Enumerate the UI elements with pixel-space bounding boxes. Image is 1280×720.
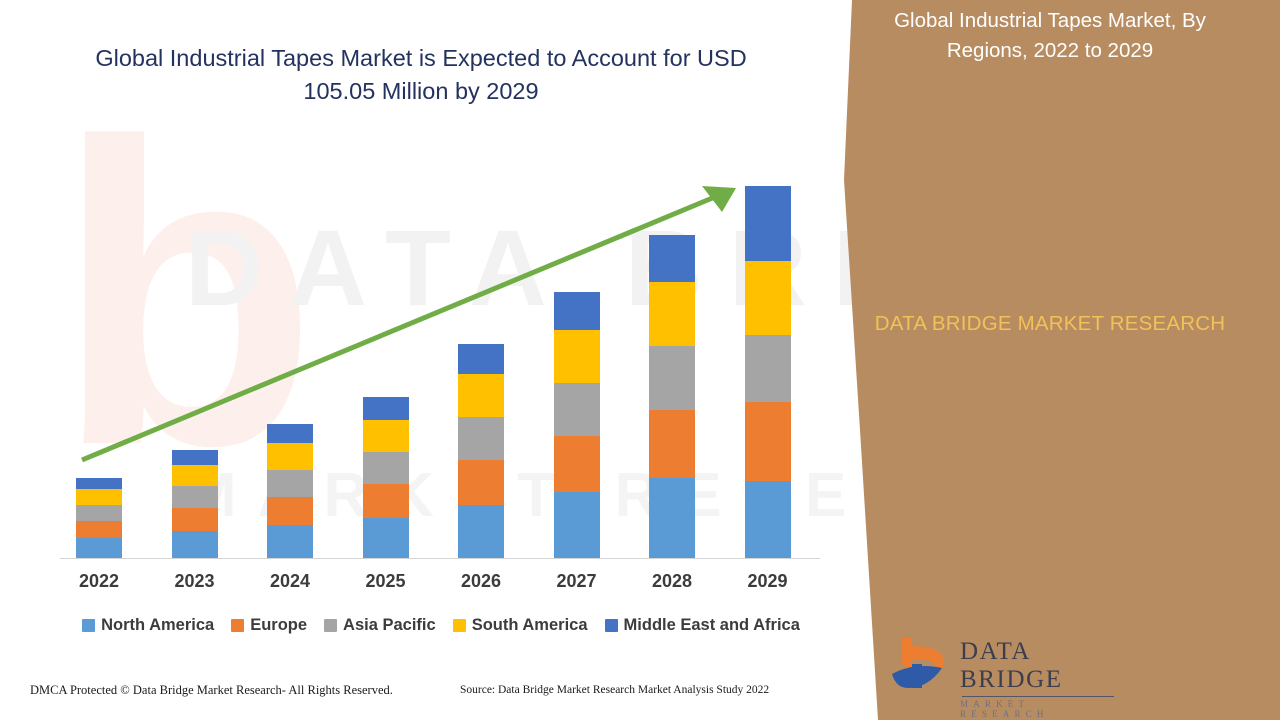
x-tick-2022: 2022 [54,571,144,592]
bar-segment [76,505,122,521]
panel-title: Global Industrial Tapes Market, By Regio… [860,6,1240,66]
logo-mark-icon [888,634,952,696]
legend-item[interactable]: North America [82,616,214,635]
x-tick-2023: 2023 [150,571,240,592]
stacked-bar-chart: 20222023202420252026202720282029 [0,0,880,720]
legend-swatch-icon [605,619,618,632]
logo-subtitle: MARKET RESEARCH [960,699,1118,719]
logo-wordmark: DATA BRIDGE MARKET RESEARCH [960,638,1118,719]
legend-item[interactable]: South America [453,616,588,635]
x-tick-2028: 2028 [627,571,717,592]
growth-arrow-icon [0,150,880,490]
x-tick-2024: 2024 [245,571,335,592]
bar-segment [76,538,122,558]
bar-segment [363,518,409,558]
x-axis-line [60,558,820,559]
legend-item[interactable]: Middle East and Africa [605,616,800,635]
chart-legend: North AmericaEuropeAsia PacificSouth Ame… [56,616,826,635]
legend-swatch-icon [231,619,244,632]
legend-label: Asia Pacific [343,616,436,635]
right-brand-panel: Global Industrial Tapes Market, By Regio… [820,0,1280,720]
bar-segment [172,508,218,531]
bar-segment [745,481,791,558]
x-tick-2027: 2027 [532,571,622,592]
legend-label: South America [472,616,588,635]
bar-segment [76,489,122,505]
legend-swatch-icon [82,619,95,632]
bar-segment [172,531,218,558]
footer-dmca-notice: DMCA Protected © Data Bridge Market Rese… [30,683,393,698]
bar-segment [267,497,313,525]
brand-name: DATA BRIDGE MARKET RESEARCH [855,308,1245,339]
bar-segment [76,521,122,538]
bar-segment [267,525,313,558]
bar-segment [554,492,600,558]
bar-segment [458,505,504,558]
legend-swatch-icon [453,619,466,632]
logo-title: DATA BRIDGE [960,638,1118,694]
data-bridge-logo: DATA BRIDGE MARKET RESEARCH [888,634,1118,696]
x-tick-2029: 2029 [723,571,813,592]
legend-label: North America [101,616,214,635]
legend-label: Middle East and Africa [624,616,800,635]
logo-divider [962,696,1114,697]
footer-source-note: Source: Data Bridge Market Research Mark… [460,684,769,696]
legend-label: Europe [250,616,307,635]
legend-swatch-icon [324,619,337,632]
legend-item[interactable]: Asia Pacific [324,616,436,635]
x-tick-2025: 2025 [341,571,431,592]
x-tick-2026: 2026 [436,571,526,592]
legend-item[interactable]: Europe [231,616,307,635]
